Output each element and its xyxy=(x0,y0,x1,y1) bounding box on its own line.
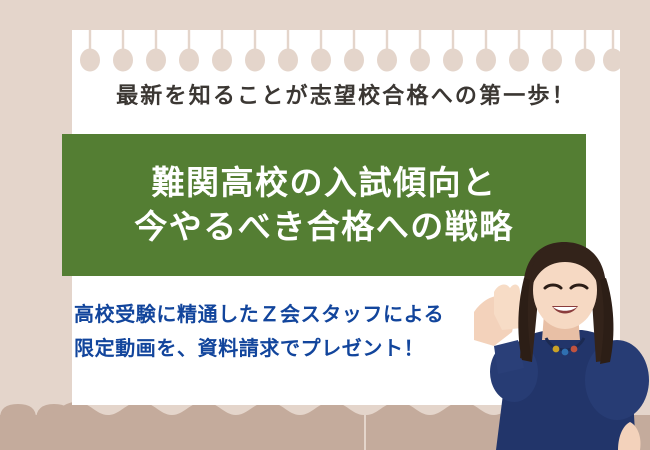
hanging-dot-icon xyxy=(147,30,166,71)
hanging-dot-icon xyxy=(114,30,133,71)
hanging-dots-svg xyxy=(72,30,620,72)
hanging-dot-icon xyxy=(477,30,496,71)
hanging-dot-icon xyxy=(180,30,199,71)
hanging-dot-icon xyxy=(81,30,100,71)
subtext-line-2: 限定動画を、資料請求でプレゼント！ xyxy=(74,332,534,366)
title-line-1: 難関高校の入試傾向と xyxy=(152,161,497,205)
hanging-dot-icon xyxy=(543,30,562,71)
hanging-dots-row xyxy=(72,30,620,72)
hanging-dot-icon xyxy=(411,30,430,71)
hanging-dot-icon xyxy=(213,30,232,71)
hanging-dot-icon xyxy=(604,30,621,71)
subtext-block: 高校受験に精通したＺ会スタッフによる 限定動画を、資料請求でプレゼント！ xyxy=(72,298,534,367)
hanging-dot-icon xyxy=(345,30,364,71)
kicker-heading: 最新を知ることが志望校合格への第一歩！ xyxy=(72,78,620,110)
hanging-dot-icon xyxy=(279,30,298,71)
hanging-dot-icon xyxy=(378,30,397,71)
hanging-dot-icon xyxy=(246,30,265,71)
hanging-dot-icon xyxy=(312,30,331,71)
title-line-2: 今やるべき合格への戦略 xyxy=(134,205,514,249)
hanging-dot-icon xyxy=(576,30,595,71)
subtext-line-1: 高校受験に精通したＺ会スタッフによる xyxy=(74,298,534,332)
puff-sleeve-right xyxy=(585,340,649,420)
presenter-svg xyxy=(472,240,650,450)
pointing-presenter-photo xyxy=(472,240,650,450)
promo-banner: 最新を知ることが志望校合格への第一歩！ 難関高校の入試傾向と 今やるべき合格への… xyxy=(0,0,650,450)
hanging-dot-icon xyxy=(444,30,463,71)
hanging-dot-icon xyxy=(510,30,529,71)
